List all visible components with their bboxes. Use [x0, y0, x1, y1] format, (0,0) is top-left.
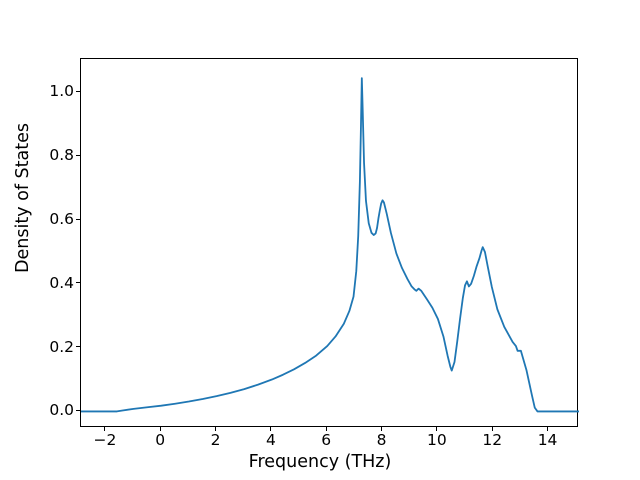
y-tick-mark	[76, 346, 80, 347]
x-tick-label: 12	[482, 431, 502, 449]
dos-curve	[81, 59, 579, 428]
y-tick-label: 0.4	[49, 274, 74, 292]
y-tick-mark	[76, 219, 80, 220]
phonon-dos-figure: −2024681012140.00.20.40.60.81.0 Frequenc…	[0, 0, 640, 480]
y-tick-mark	[76, 410, 80, 411]
plot-area	[80, 58, 578, 427]
x-tick-label: 4	[266, 431, 276, 449]
x-tick-label: 0	[155, 431, 165, 449]
y-axis-label: Density of States	[13, 58, 33, 338]
x-tick-label: −2	[93, 431, 116, 449]
x-tick-label: 14	[538, 431, 558, 449]
y-tick-label: 0.2	[49, 338, 74, 356]
y-tick-mark	[76, 155, 80, 156]
x-axis-label: Frequency (THz)	[0, 452, 640, 472]
y-tick-mark	[76, 282, 80, 283]
x-tick-label: 2	[211, 431, 221, 449]
dos-line	[81, 78, 579, 411]
x-tick-label: 8	[377, 431, 387, 449]
y-tick-label: 1.0	[49, 82, 74, 100]
x-tick-label: 10	[427, 431, 447, 449]
y-tick-label: 0.6	[49, 210, 74, 228]
x-tick-label: 6	[321, 431, 331, 449]
y-tick-label: 0.0	[49, 401, 74, 419]
y-tick-label: 0.8	[49, 146, 74, 164]
y-tick-mark	[76, 91, 80, 92]
